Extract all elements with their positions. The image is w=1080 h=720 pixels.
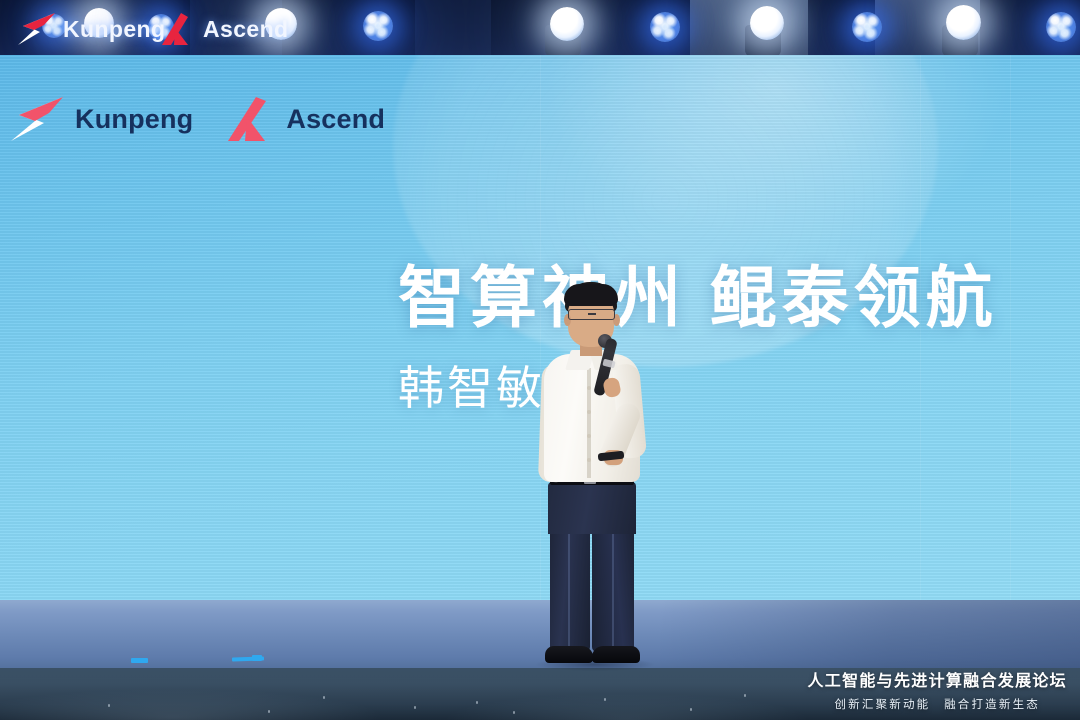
stage-light-white <box>550 7 584 41</box>
screen-logo-ascend: Ascend <box>223 95 385 143</box>
speaker-leg-left <box>550 526 590 652</box>
truss-logo-kunpeng-label: Kunpeng <box>63 16 165 43</box>
eyeglasses-bridge <box>588 313 596 315</box>
lighting-truss-band: Kunpeng Ascend <box>0 0 1080 57</box>
speaker-figure <box>512 282 672 674</box>
speaker-hips <box>548 482 636 534</box>
stage-light-blue <box>650 12 680 42</box>
eyeglasses-icon <box>568 309 615 320</box>
truss-logo-ascend-label: Ascend <box>203 16 288 43</box>
kunpeng-bird-logo-icon <box>14 12 56 46</box>
stage-apron-front: 人工智能与先进计算融合发展论坛 创新汇聚新动能 融合打造新生态 <box>0 668 1080 720</box>
speaker-shirt-button <box>587 386 591 390</box>
stage-photo: Kunpeng Ascend Kunpeng <box>0 0 1080 720</box>
stage-light-blue <box>852 12 882 42</box>
stage-light-white <box>946 5 981 40</box>
ascend-a-logo-icon <box>158 12 196 46</box>
slide-title: 智算神州 鲲泰领航 <box>398 265 998 332</box>
speaker-shoe-right <box>592 646 640 663</box>
screen-logo-kunpeng: Kunpeng <box>8 95 193 143</box>
speaker-shoe-left <box>545 646 593 663</box>
screen-panel-seam <box>1010 55 1011 600</box>
forum-title: 人工智能与先进计算融合发展论坛 <box>807 672 1067 691</box>
kunpeng-bird-logo-icon <box>8 95 64 143</box>
stage-light-blue <box>1046 12 1076 42</box>
speaker-shirt-button <box>587 458 591 462</box>
speaker-shirt-button <box>587 434 591 438</box>
stage-light-white <box>750 6 784 40</box>
ascend-a-logo-icon <box>223 95 275 143</box>
screen-logo-ascend-label: Ascend <box>286 104 385 135</box>
forum-branding: 人工智能与先进计算融合发展论坛 创新汇聚新动能 融合打造新生态 <box>807 672 1067 712</box>
screen-logo-row: Kunpeng Ascend <box>8 95 385 143</box>
screen-logo-kunpeng-label: Kunpeng <box>75 104 193 135</box>
truss-logo-ascend: Ascend <box>158 12 288 46</box>
truss-panel <box>415 0 491 57</box>
truss-logo-kunpeng: Kunpeng <box>14 12 165 46</box>
stage-floor-shadow <box>660 600 1080 668</box>
speaker-shirt-button <box>587 410 591 414</box>
stage-light-blue <box>363 11 393 41</box>
floor-tape-mark <box>131 658 148 663</box>
floor-tape-mark <box>252 655 262 661</box>
forum-subtitle: 创新汇聚新动能 融合打造新生态 <box>807 696 1067 712</box>
speaker-hair-top <box>564 284 618 306</box>
